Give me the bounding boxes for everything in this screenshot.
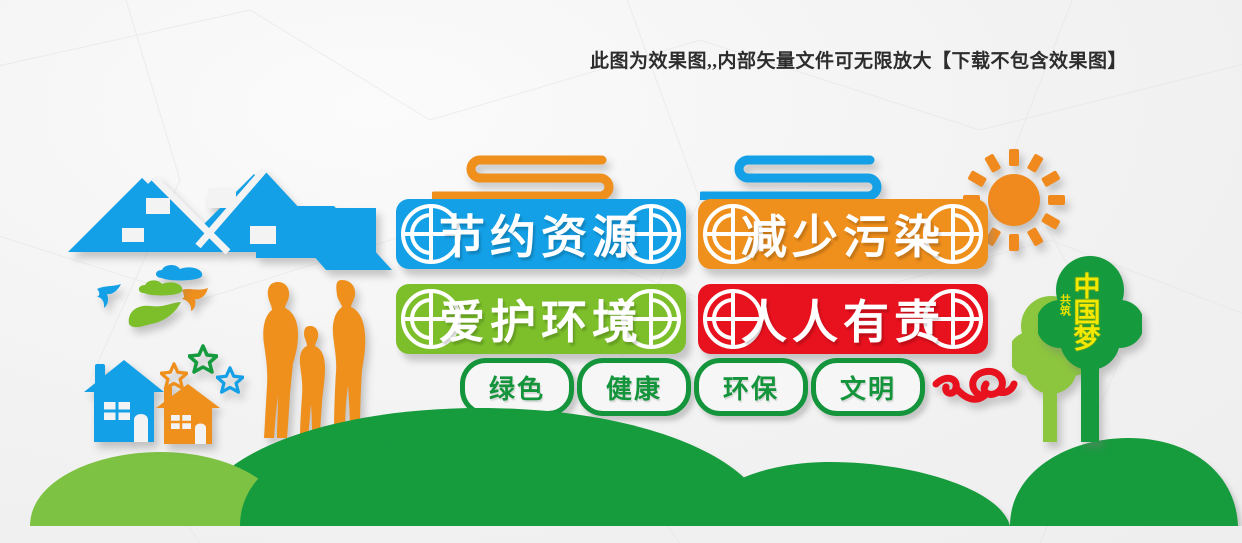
banner-label: 节约资源 <box>439 201 643 267</box>
house-orange-icon <box>154 382 222 444</box>
cloud-scroll-orange-icon <box>432 150 622 200</box>
banner-label: 人人有责 <box>741 286 945 352</box>
watermark-text: 此图为效果图,,内部矢量文件可无限放大【下载不包含效果图】 <box>590 52 1190 71</box>
banner-label: 爱护环境 <box>439 286 643 352</box>
bird-green-icon <box>125 300 185 336</box>
banner-everyone-responsible[interactable]: 人人有责 <box>698 284 988 354</box>
star-green-icon <box>188 344 218 374</box>
cloud-green-icon <box>136 278 188 298</box>
tree-dark-green-icon <box>1038 252 1142 442</box>
banner-protect-environment[interactable]: 爱护环境 <box>396 284 686 354</box>
bird-blue-icon <box>95 283 125 309</box>
wall-mural-canvas: 此图为效果图,,内部矢量文件可无限放大【下载不包含效果图】 <box>0 0 1242 543</box>
hill-dark-green-right2 <box>700 462 1010 526</box>
banner-reduce-pollution[interactable]: 减少污染 <box>698 199 988 269</box>
hill-dark-green-right <box>1010 438 1238 526</box>
banner-save-resources[interactable]: 节约资源 <box>396 199 686 269</box>
rooftop-skyline-icon <box>58 160 398 280</box>
cloud-scroll-blue-icon <box>700 150 890 200</box>
banner-label: 减少污染 <box>741 201 945 267</box>
